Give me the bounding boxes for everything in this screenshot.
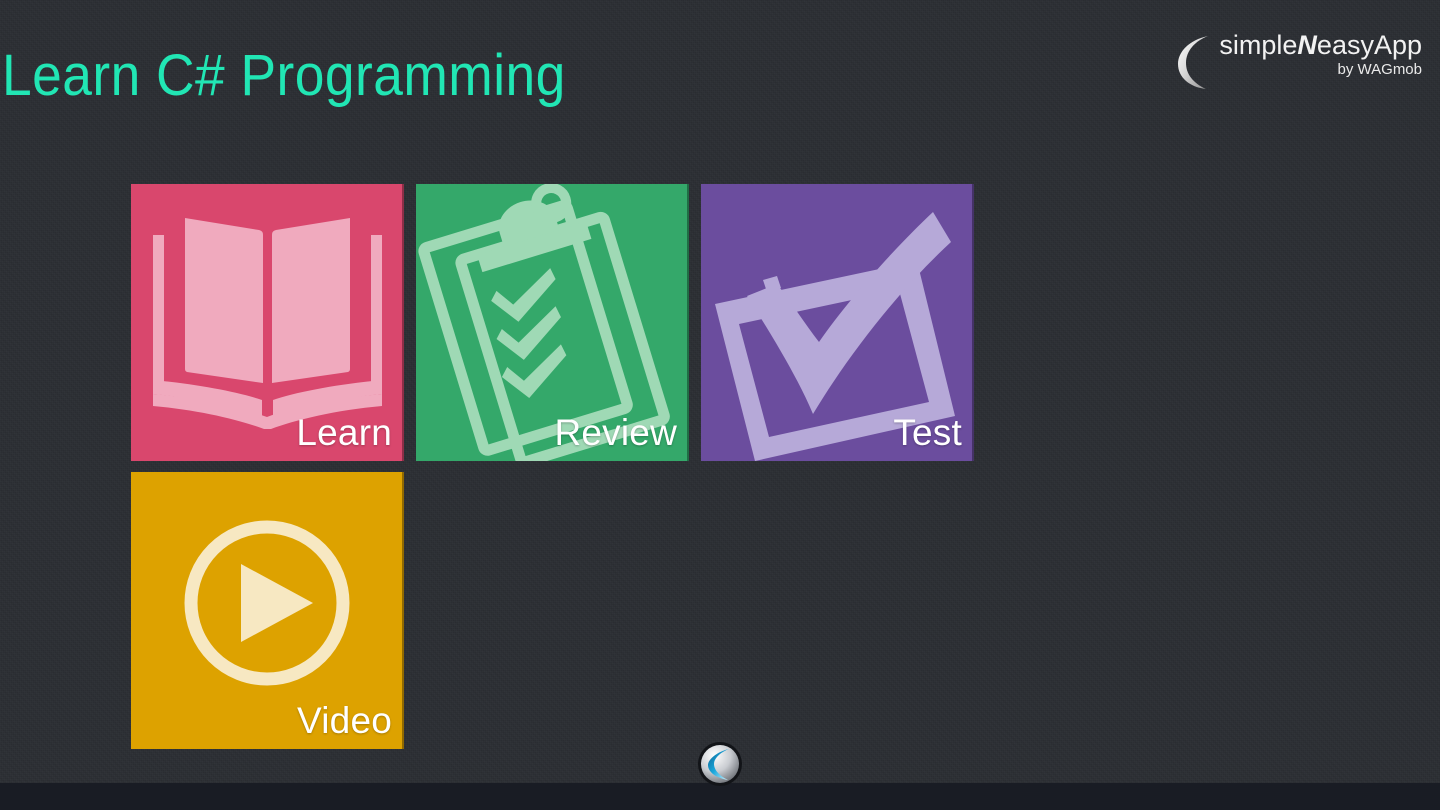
tile-learn[interactable]: Learn — [131, 184, 404, 461]
tile-review[interactable]: Review — [416, 184, 689, 461]
brand-name-highlight: N — [1297, 30, 1317, 60]
page-title: Learn C# Programming — [2, 47, 566, 105]
tile-row: Learn — [131, 184, 991, 461]
crescent-moon-icon — [1175, 34, 1215, 90]
brand-name-part1: simple — [1219, 30, 1297, 60]
brand-subtitle: by WAGmob — [1338, 60, 1422, 80]
tile-label: Video — [297, 699, 392, 743]
brand-text: simpleNeasyApp by WAGmob — [1219, 30, 1422, 80]
tile-grid: Learn — [131, 184, 991, 749]
tile-label: Test — [893, 411, 962, 455]
brand-logo: simpleNeasyApp by WAGmob — [1175, 30, 1422, 90]
bottom-bar — [0, 783, 1440, 810]
tile-video[interactable]: Video — [131, 472, 404, 749]
tile-row: Video — [131, 472, 991, 749]
tile-label: Learn — [296, 411, 392, 455]
brand-name: simpleNeasyApp — [1219, 30, 1422, 60]
wagmob-crescent-badge-icon[interactable] — [697, 741, 743, 787]
brand-name-part2: easyApp — [1317, 30, 1422, 60]
app-root: Learn C# Programming simpleNeasyApp by W… — [0, 0, 1440, 810]
tile-test[interactable]: Test — [701, 184, 974, 461]
tile-label: Review — [554, 411, 677, 455]
